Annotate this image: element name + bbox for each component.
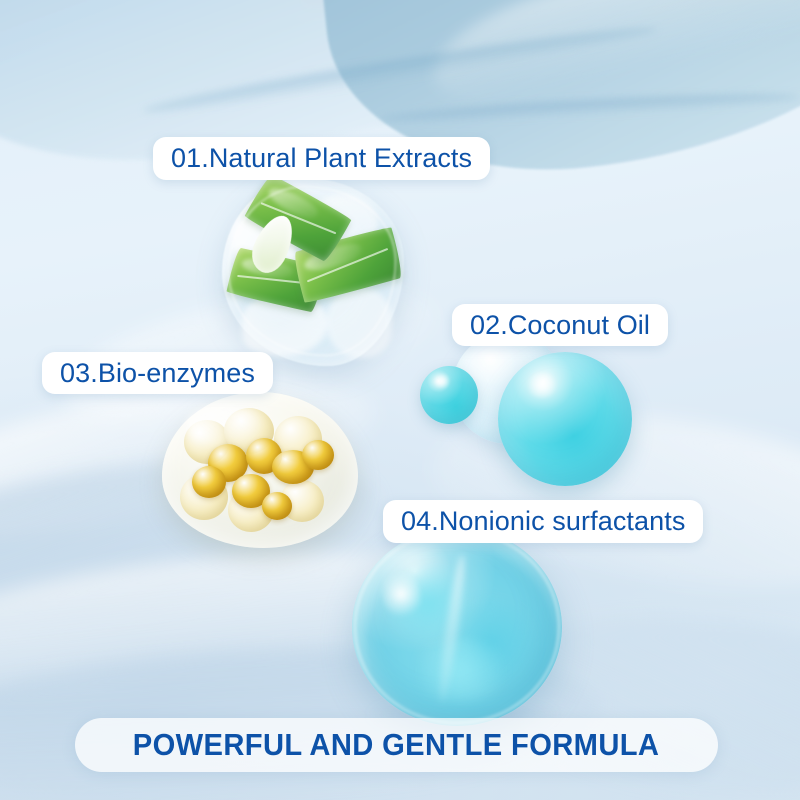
label-text: 01.Natural Plant Extracts bbox=[171, 143, 472, 174]
headline-text: POWERFUL AND GENTLE FORMULA bbox=[133, 727, 660, 763]
label-text: 02.Coconut Oil bbox=[470, 310, 650, 341]
headline-banner: POWERFUL AND GENTLE FORMULA bbox=[75, 718, 718, 772]
label-bio-enzymes: 03.Bio-enzymes bbox=[42, 352, 273, 394]
marketing-graphic: 01.Natural Plant Extracts 02.Coconut Oil… bbox=[0, 0, 800, 800]
label-natural-plant-extracts: 01.Natural Plant Extracts bbox=[153, 137, 490, 180]
label-nonionic-surfactants: 04.Nonionic surfactants bbox=[383, 500, 703, 543]
label-text: 04.Nonionic surfactants bbox=[401, 506, 685, 537]
label-text: 03.Bio-enzymes bbox=[60, 358, 255, 389]
scene-vignette bbox=[0, 0, 800, 800]
label-coconut-oil: 02.Coconut Oil bbox=[452, 304, 668, 346]
